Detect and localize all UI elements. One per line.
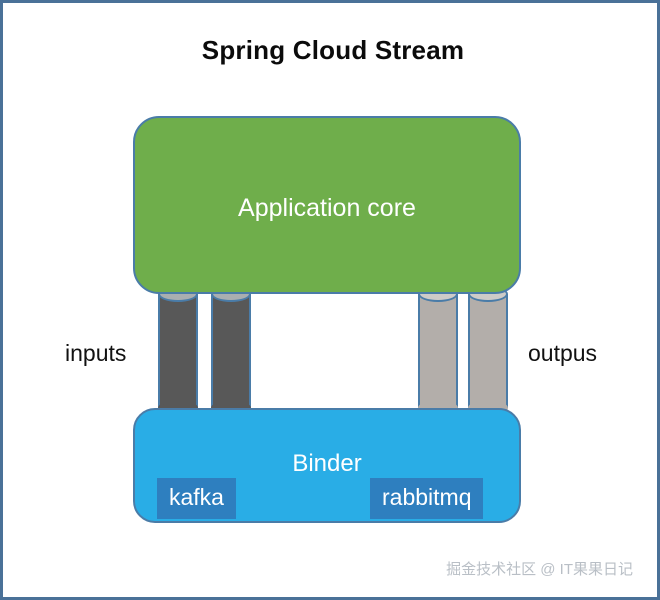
binder-box: Binder kafka rabbitmq (133, 408, 521, 523)
output-pipe-1 (418, 286, 458, 416)
pipe-body (468, 294, 508, 408)
page-title: Spring Cloud Stream (3, 35, 660, 66)
inputs-label: inputs (65, 340, 126, 367)
pipe-body (211, 294, 251, 408)
input-pipe-2 (211, 286, 251, 416)
watermark: 掘金技术社区 @ IT果果日记 (446, 558, 633, 579)
outputs-label: outpus (528, 340, 597, 367)
pipe-body (418, 294, 458, 408)
binder-label: Binder (135, 450, 519, 478)
output-pipe-2 (468, 286, 508, 416)
pipe-body (158, 294, 198, 408)
diagram-canvas: Spring Cloud Stream Application core inp… (0, 0, 660, 600)
application-core-box: Application core (133, 116, 521, 294)
binder-tag-rabbitmq: rabbitmq (370, 478, 483, 519)
binder-tag-kafka: kafka (157, 478, 236, 519)
application-core-label: Application core (135, 118, 519, 292)
input-pipe-1 (158, 286, 198, 416)
